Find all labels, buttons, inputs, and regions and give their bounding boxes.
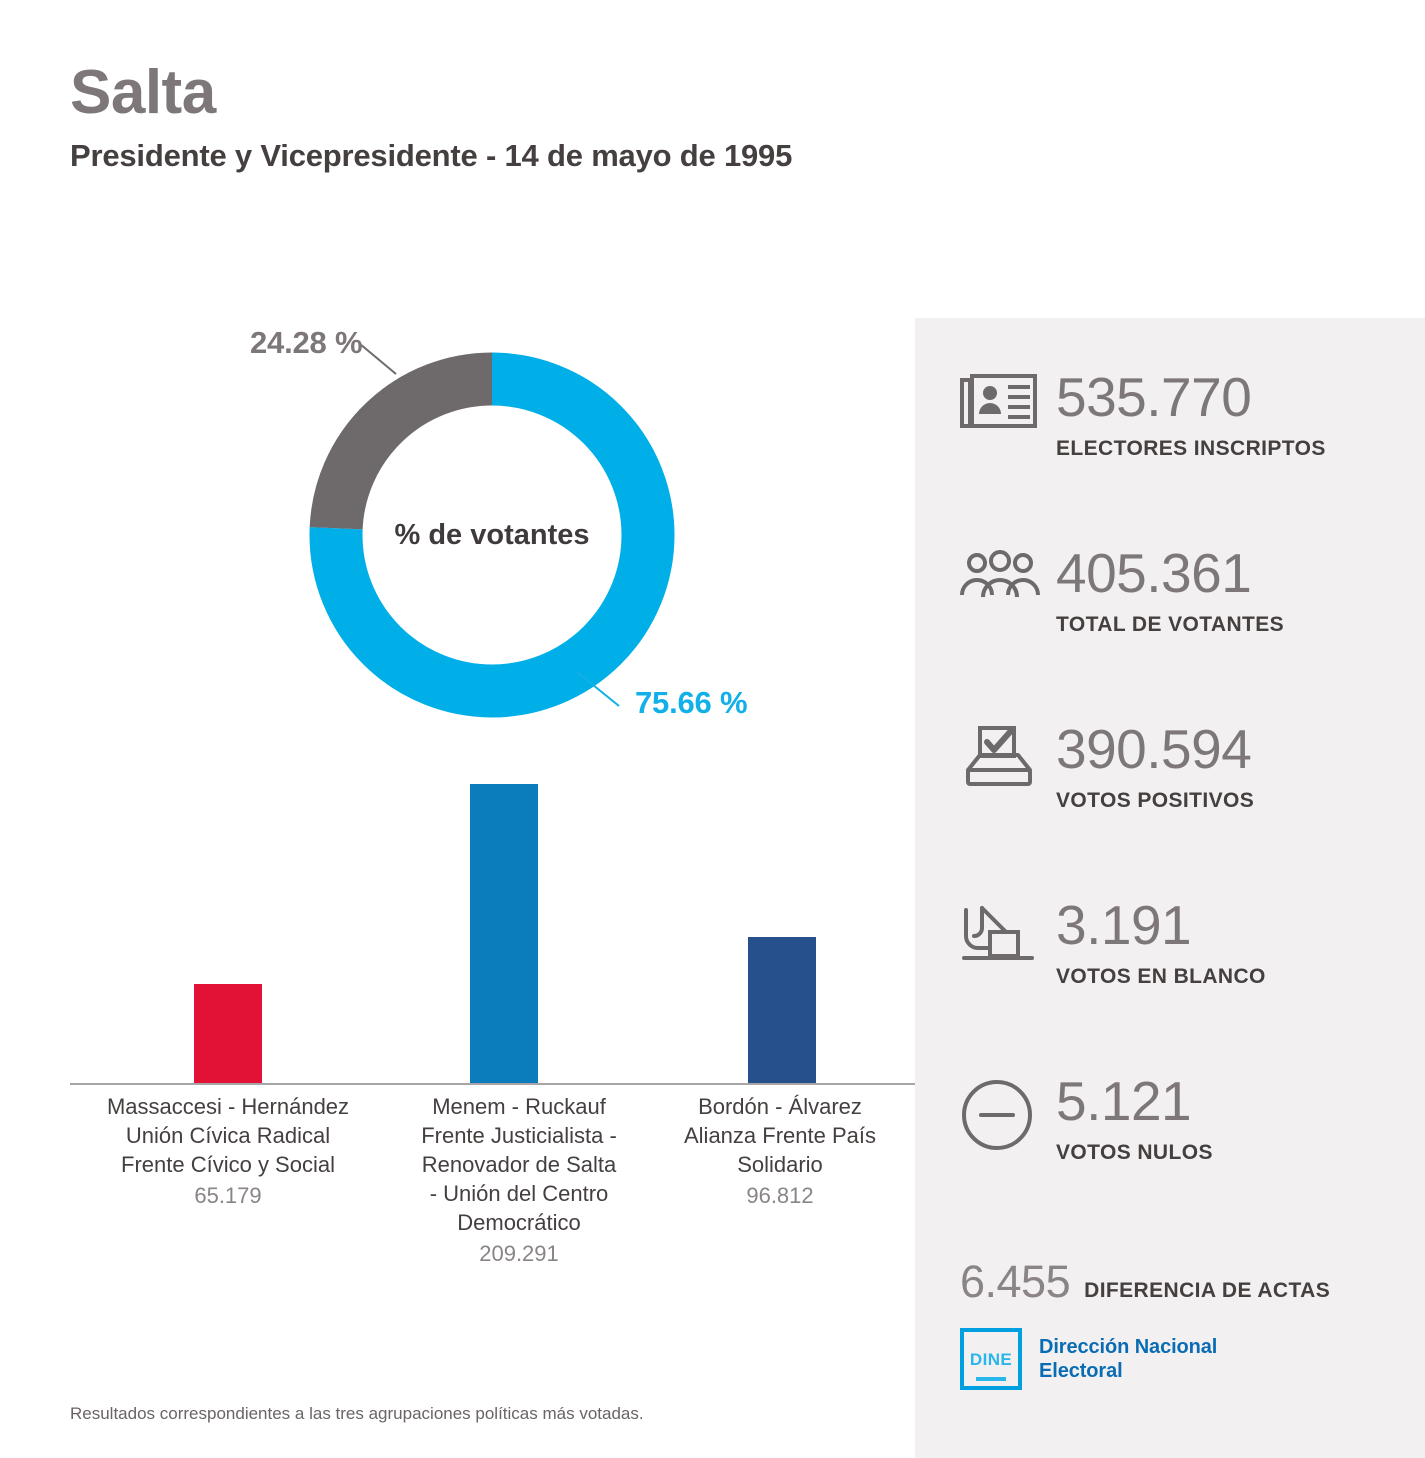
results-bar-chart [70,760,915,1085]
hand-ballot-icon [960,898,1056,964]
donut-label-ausentes: 24.28 % [250,325,362,361]
stat-label: VOTOS POSITIVOS [1056,789,1390,813]
party-line: Renovador de Salta [388,1150,650,1179]
people-group-icon [960,546,1056,600]
vote-count: 209.291 [388,1239,650,1268]
page-subtitle: Presidente y Vicepresidente - 14 de mayo… [70,138,910,174]
vote-count: 65.179 [78,1181,378,1210]
party-line: - Unión del Centro [388,1179,650,1208]
id-card-icon [960,370,1056,432]
dine-logo-name: Dirección Nacional Electoral [1039,1335,1217,1384]
turnout-donut-chart: % de votantes [282,325,702,745]
bar-label-menem: Menem - Ruckauf Frente Justicialista - R… [388,1092,650,1268]
stat-value: 390.594 [1056,722,1390,777]
candidate-name: Massaccesi - Hernández [78,1092,378,1121]
stat-label: VOTOS NULOS [1056,1141,1390,1165]
leader-line-gray [358,340,418,380]
footnote: Resultados correspondientes a las tres a… [70,1404,644,1424]
dine-logo: DINE Dirección Nacional Electoral [960,1328,1217,1390]
stat-text: 405.361 TOTAL DE VOTANTES [1056,546,1390,637]
stat-votos-en-blanco: 3.191 VOTOS EN BLANCO [960,898,1390,989]
bar-massaccesi [194,984,262,1083]
chart-baseline [70,1083,915,1085]
candidate-name: Menem - Ruckauf [388,1092,650,1121]
stat-votos-positivos: 390.594 VOTOS POSITIVOS [960,722,1390,813]
stat-value: 5.121 [1056,1074,1390,1129]
party-line: Alianza Frente País [655,1121,905,1150]
bar-bordon [748,937,816,1083]
party-line: Solidario [655,1150,905,1179]
stat-votos-nulos: 5.121 VOTOS NULOS [960,1074,1390,1165]
vote-count: 96.812 [655,1181,905,1210]
diferencia-value: 6.455 [960,1256,1070,1308]
stat-text: 535.770 ELECTORES INSCRIPTOS [1056,370,1390,461]
candidate-name: Bordón - Álvarez [655,1092,905,1121]
leader-line-cyan [575,668,637,713]
stat-value: 535.770 [1056,370,1390,425]
bar-menem [470,784,538,1083]
party-line: Democrático [388,1208,650,1237]
dine-name-line1: Dirección Nacional [1039,1336,1217,1358]
party-line: Frente Cívico y Social [78,1150,378,1179]
party-line: Frente Justicialista - [388,1121,650,1150]
bar-label-bordon: Bordón - Álvarez Alianza Frente País Sol… [655,1092,905,1268]
ballot-box-check-icon [960,722,1056,788]
dine-logo-text: DINE [970,1351,1012,1368]
stat-text: 390.594 VOTOS POSITIVOS [1056,722,1390,813]
donut-svg [282,325,702,745]
stat-diferencia-de-actas: 6.455 DIFERENCIA DE ACTAS [960,1256,1400,1308]
stat-electores-inscriptos: 535.770 ELECTORES INSCRIPTOS [960,370,1390,461]
bar-label-massaccesi: Massaccesi - Hernández Unión Cívica Radi… [78,1092,378,1268]
stat-value: 3.191 [1056,898,1390,953]
bar-chart-labels: Massaccesi - Hernández Unión Cívica Radi… [70,1092,915,1268]
stat-label: TOTAL DE VOTANTES [1056,613,1390,637]
stat-label: VOTOS EN BLANCO [1056,965,1390,989]
diferencia-label: DIFERENCIA DE ACTAS [1084,1279,1330,1303]
page-title: Salta [70,62,910,124]
dine-logo-bar [976,1377,1006,1381]
page-header: Salta Presidente y Vicepresidente - 14 d… [70,62,910,174]
stat-total-votantes: 405.361 TOTAL DE VOTANTES [960,546,1390,637]
stat-text: 5.121 VOTOS NULOS [1056,1074,1390,1165]
donut-label-votantes: 75.66 % [635,685,747,721]
stat-text: 3.191 VOTOS EN BLANCO [1056,898,1390,989]
dine-logo-mark: DINE [960,1328,1022,1390]
party-line: Unión Cívica Radical [78,1121,378,1150]
summary-stats-panel: 535.770 ELECTORES INSCRIPTOS 405.361 TOT… [915,318,1425,1458]
stat-value: 405.361 [1056,546,1390,601]
circle-minus-icon [960,1074,1056,1152]
stat-label: ELECTORES INSCRIPTOS [1056,437,1390,461]
dine-name-line2: Electoral [1039,1360,1123,1382]
